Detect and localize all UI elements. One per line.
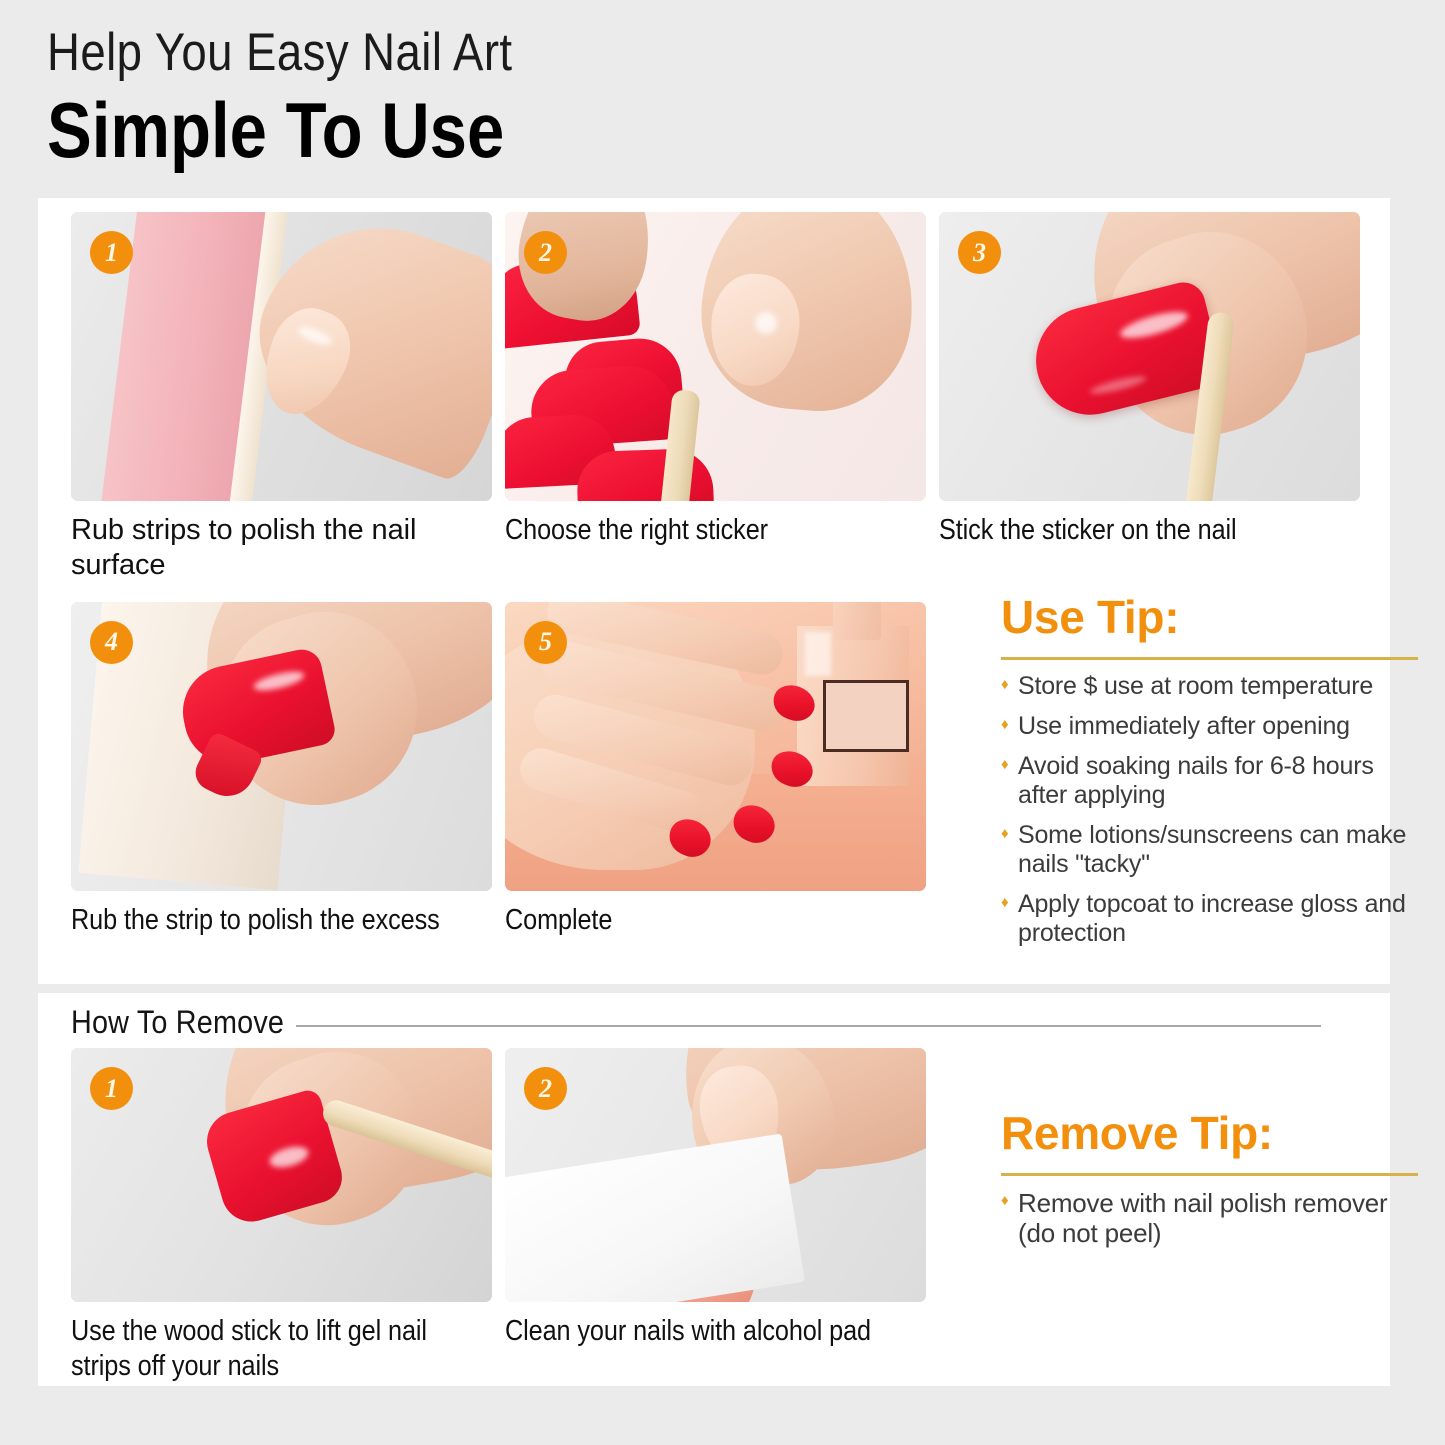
remove-step-1-caption: Use the wood stick to lift gel nail stri… — [71, 1314, 492, 1385]
step-number-badge: 3 — [958, 231, 1001, 274]
use-step-3: 3 Stick the sticker on the nail — [939, 212, 1360, 584]
remove-tip-title: Remove Tip: — [1001, 1108, 1426, 1159]
use-step-5-caption: Complete — [505, 903, 926, 938]
list-item: ♦Store $ use at room temperature — [1001, 672, 1426, 701]
header-eyebrow: Help You Easy Nail Art — [47, 22, 1199, 85]
use-tip-panel: Use Tip: ♦Store $ use at room temperatur… — [1001, 590, 1426, 959]
remove-tip-divider — [1001, 1173, 1418, 1176]
use-steps-row-1: 1 Rub strips to polish the nail surface — [71, 212, 1361, 584]
diamond-bullet-icon: ♦ — [1001, 677, 1008, 692]
remove-tip-item-text: Remove with nail polish remover (do not … — [1018, 1188, 1388, 1248]
use-step-4: 4 Rub the strip to polish the excess — [71, 602, 492, 938]
use-step-1-caption: Rub strips to polish the nail surface — [71, 513, 492, 584]
use-tip-item-text: Use immediately after opening — [1018, 712, 1350, 740]
list-item: ♦Some lotions/sunscreens can make nails … — [1001, 821, 1426, 879]
use-tip-item-text: Apply topcoat to increase gloss and prot… — [1018, 890, 1406, 947]
use-tip-item-text: Some lotions/sunscreens can make nails "… — [1018, 821, 1406, 878]
list-item: ♦Remove with nail polish remover (do not… — [1001, 1188, 1426, 1248]
remove-section-header: How To Remove — [71, 1004, 1321, 1041]
remove-section-heading: How To Remove — [71, 1004, 284, 1041]
list-item: ♦Avoid soaking nails for 6-8 hours after… — [1001, 752, 1426, 810]
diamond-bullet-icon: ♦ — [1001, 757, 1008, 772]
remove-heading-divider — [296, 1025, 1321, 1027]
diamond-bullet-icon: ♦ — [1001, 1193, 1008, 1208]
step-number-badge: 5 — [524, 621, 567, 664]
how-to-remove-card: How To Remove 1 Use the wood stick to — [38, 993, 1390, 1386]
remove-tip-panel: Remove Tip: ♦Remove with nail polish rem… — [1001, 1106, 1426, 1259]
step-number-badge: 2 — [524, 1067, 567, 1110]
finished-manicure-photo: 5 — [505, 602, 926, 891]
nail-file-on-nail-photo: 1 — [71, 212, 492, 501]
use-step-1: 1 Rub strips to polish the nail surface — [71, 212, 492, 584]
use-tip-list: ♦Store $ use at room temperature ♦Use im… — [1001, 672, 1426, 948]
infographic-page: Help You Easy Nail Art Simple To Use — [0, 0, 1445, 1445]
use-step-5: 5 Complete — [505, 602, 926, 938]
how-to-use-card: 1 Rub strips to polish the nail surface — [38, 198, 1390, 984]
use-tip-item-text: Avoid soaking nails for 6-8 hours after … — [1018, 752, 1374, 809]
use-tip-title: Use Tip: — [1001, 592, 1426, 643]
diamond-bullet-icon: ♦ — [1001, 895, 1008, 910]
applying-sticker-photo: 3 — [939, 212, 1360, 501]
use-step-2-caption: Choose the right sticker — [505, 513, 926, 548]
list-item: ♦Apply topcoat to increase gloss and pro… — [1001, 890, 1426, 948]
filing-excess-photo: 4 — [71, 602, 492, 891]
step-number-badge: 2 — [524, 231, 567, 274]
step-number-badge: 1 — [90, 1067, 133, 1110]
use-step-2: 2 Choose the right sticker — [505, 212, 926, 584]
diamond-bullet-icon: ♦ — [1001, 826, 1008, 841]
remove-step-2: 2 Clean your nails with alcohol pad — [505, 1048, 926, 1385]
diamond-bullet-icon: ♦ — [1001, 717, 1008, 732]
page-title: Simple To Use — [47, 87, 1199, 174]
use-tip-divider — [1001, 657, 1418, 660]
remove-step-1: 1 Use the wood stick to lift gel nail st… — [71, 1048, 492, 1385]
remove-tip-list: ♦Remove with nail polish remover (do not… — [1001, 1188, 1426, 1248]
page-header: Help You Easy Nail Art Simple To Use — [47, 22, 1387, 174]
remove-steps-grid: 1 Use the wood stick to lift gel nail st… — [71, 1048, 926, 1385]
cleaning-nail-with-alcohol-pad-photo: 2 — [505, 1048, 926, 1302]
list-item: ♦Use immediately after opening — [1001, 712, 1426, 741]
remove-step-2-caption: Clean your nails with alcohol pad — [505, 1314, 926, 1349]
lifting-strip-with-wood-stick-photo: 1 — [71, 1048, 492, 1302]
use-step-3-caption: Stick the sticker on the nail — [939, 513, 1360, 548]
step-number-badge: 4 — [90, 621, 133, 664]
use-tip-item-text: Store $ use at room temperature — [1018, 672, 1373, 700]
sticker-sheet-photo: 2 — [505, 212, 926, 501]
step-number-badge: 1 — [90, 231, 133, 274]
use-step-4-caption: Rub the strip to polish the excess — [71, 903, 492, 938]
